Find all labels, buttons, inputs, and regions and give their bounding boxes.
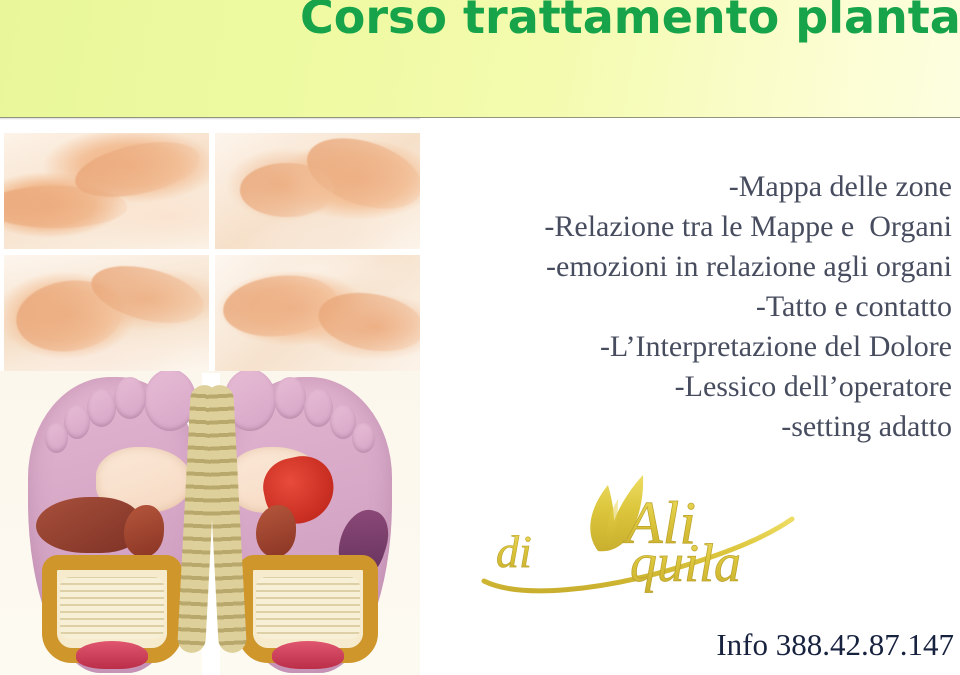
massage-photo-foot-top — [215, 255, 420, 371]
organ-small-intestine-right — [256, 577, 360, 639]
brand-logo: di Ali quila — [480, 463, 820, 603]
header-banner: Corso trattamento plantare — [0, 0, 960, 118]
topic-item: -Mappa delle zone — [424, 167, 952, 207]
topic-item: -Relazione tra le Mappe e Organi — [424, 207, 952, 247]
content-panel: -Mappa delle zone -Relazione tra le Mapp… — [420, 118, 960, 675]
organ-kidney-left — [124, 505, 164, 557]
toe-2-left — [114, 377, 146, 419]
massage-photo-toes-press — [215, 133, 420, 249]
organ-small-intestine-left — [60, 577, 164, 639]
reflexology-foot-chart — [0, 371, 420, 675]
course-topics-list: -Mappa delle zone -Relazione tra le Mapp… — [424, 167, 952, 447]
toe-2-right — [274, 377, 306, 419]
photo-foot-shape — [240, 163, 334, 216]
massage-photo-grid — [4, 133, 420, 371]
logo-word-aquila: quila — [630, 533, 741, 593]
massage-photo-ankle-hold — [4, 133, 209, 249]
toe-5-left — [45, 423, 68, 453]
massage-photo-arch-thumb — [4, 255, 209, 371]
reflexology-foot-left — [28, 377, 200, 673]
toe-3-right — [304, 389, 333, 427]
toe-4-left — [64, 405, 90, 439]
logo-word-di: di — [496, 526, 532, 577]
organ-uterus-left — [76, 641, 148, 669]
topic-item: -L’Interpretazione del Dolore — [424, 327, 952, 367]
poster-root: Corso trattamento plantare — [0, 0, 960, 675]
brand-logo-graphic: di Ali quila — [480, 463, 820, 603]
toe-3-left — [87, 389, 116, 427]
organ-uterus-right — [272, 641, 344, 669]
contact-info: Info 388.42.87.147 — [716, 627, 954, 663]
reflexology-feet — [28, 373, 392, 675]
topic-item: -Lessico dell’operatore — [424, 367, 952, 407]
topic-item: -Tatto e contatto — [424, 287, 952, 327]
toe-5-right — [352, 423, 375, 453]
topic-item: -setting adatto — [424, 407, 952, 447]
organ-kidney-right — [256, 505, 296, 557]
topic-item: -emozioni in relazione agli organi — [424, 247, 952, 287]
page-title: Corso trattamento plantare — [300, 0, 960, 47]
